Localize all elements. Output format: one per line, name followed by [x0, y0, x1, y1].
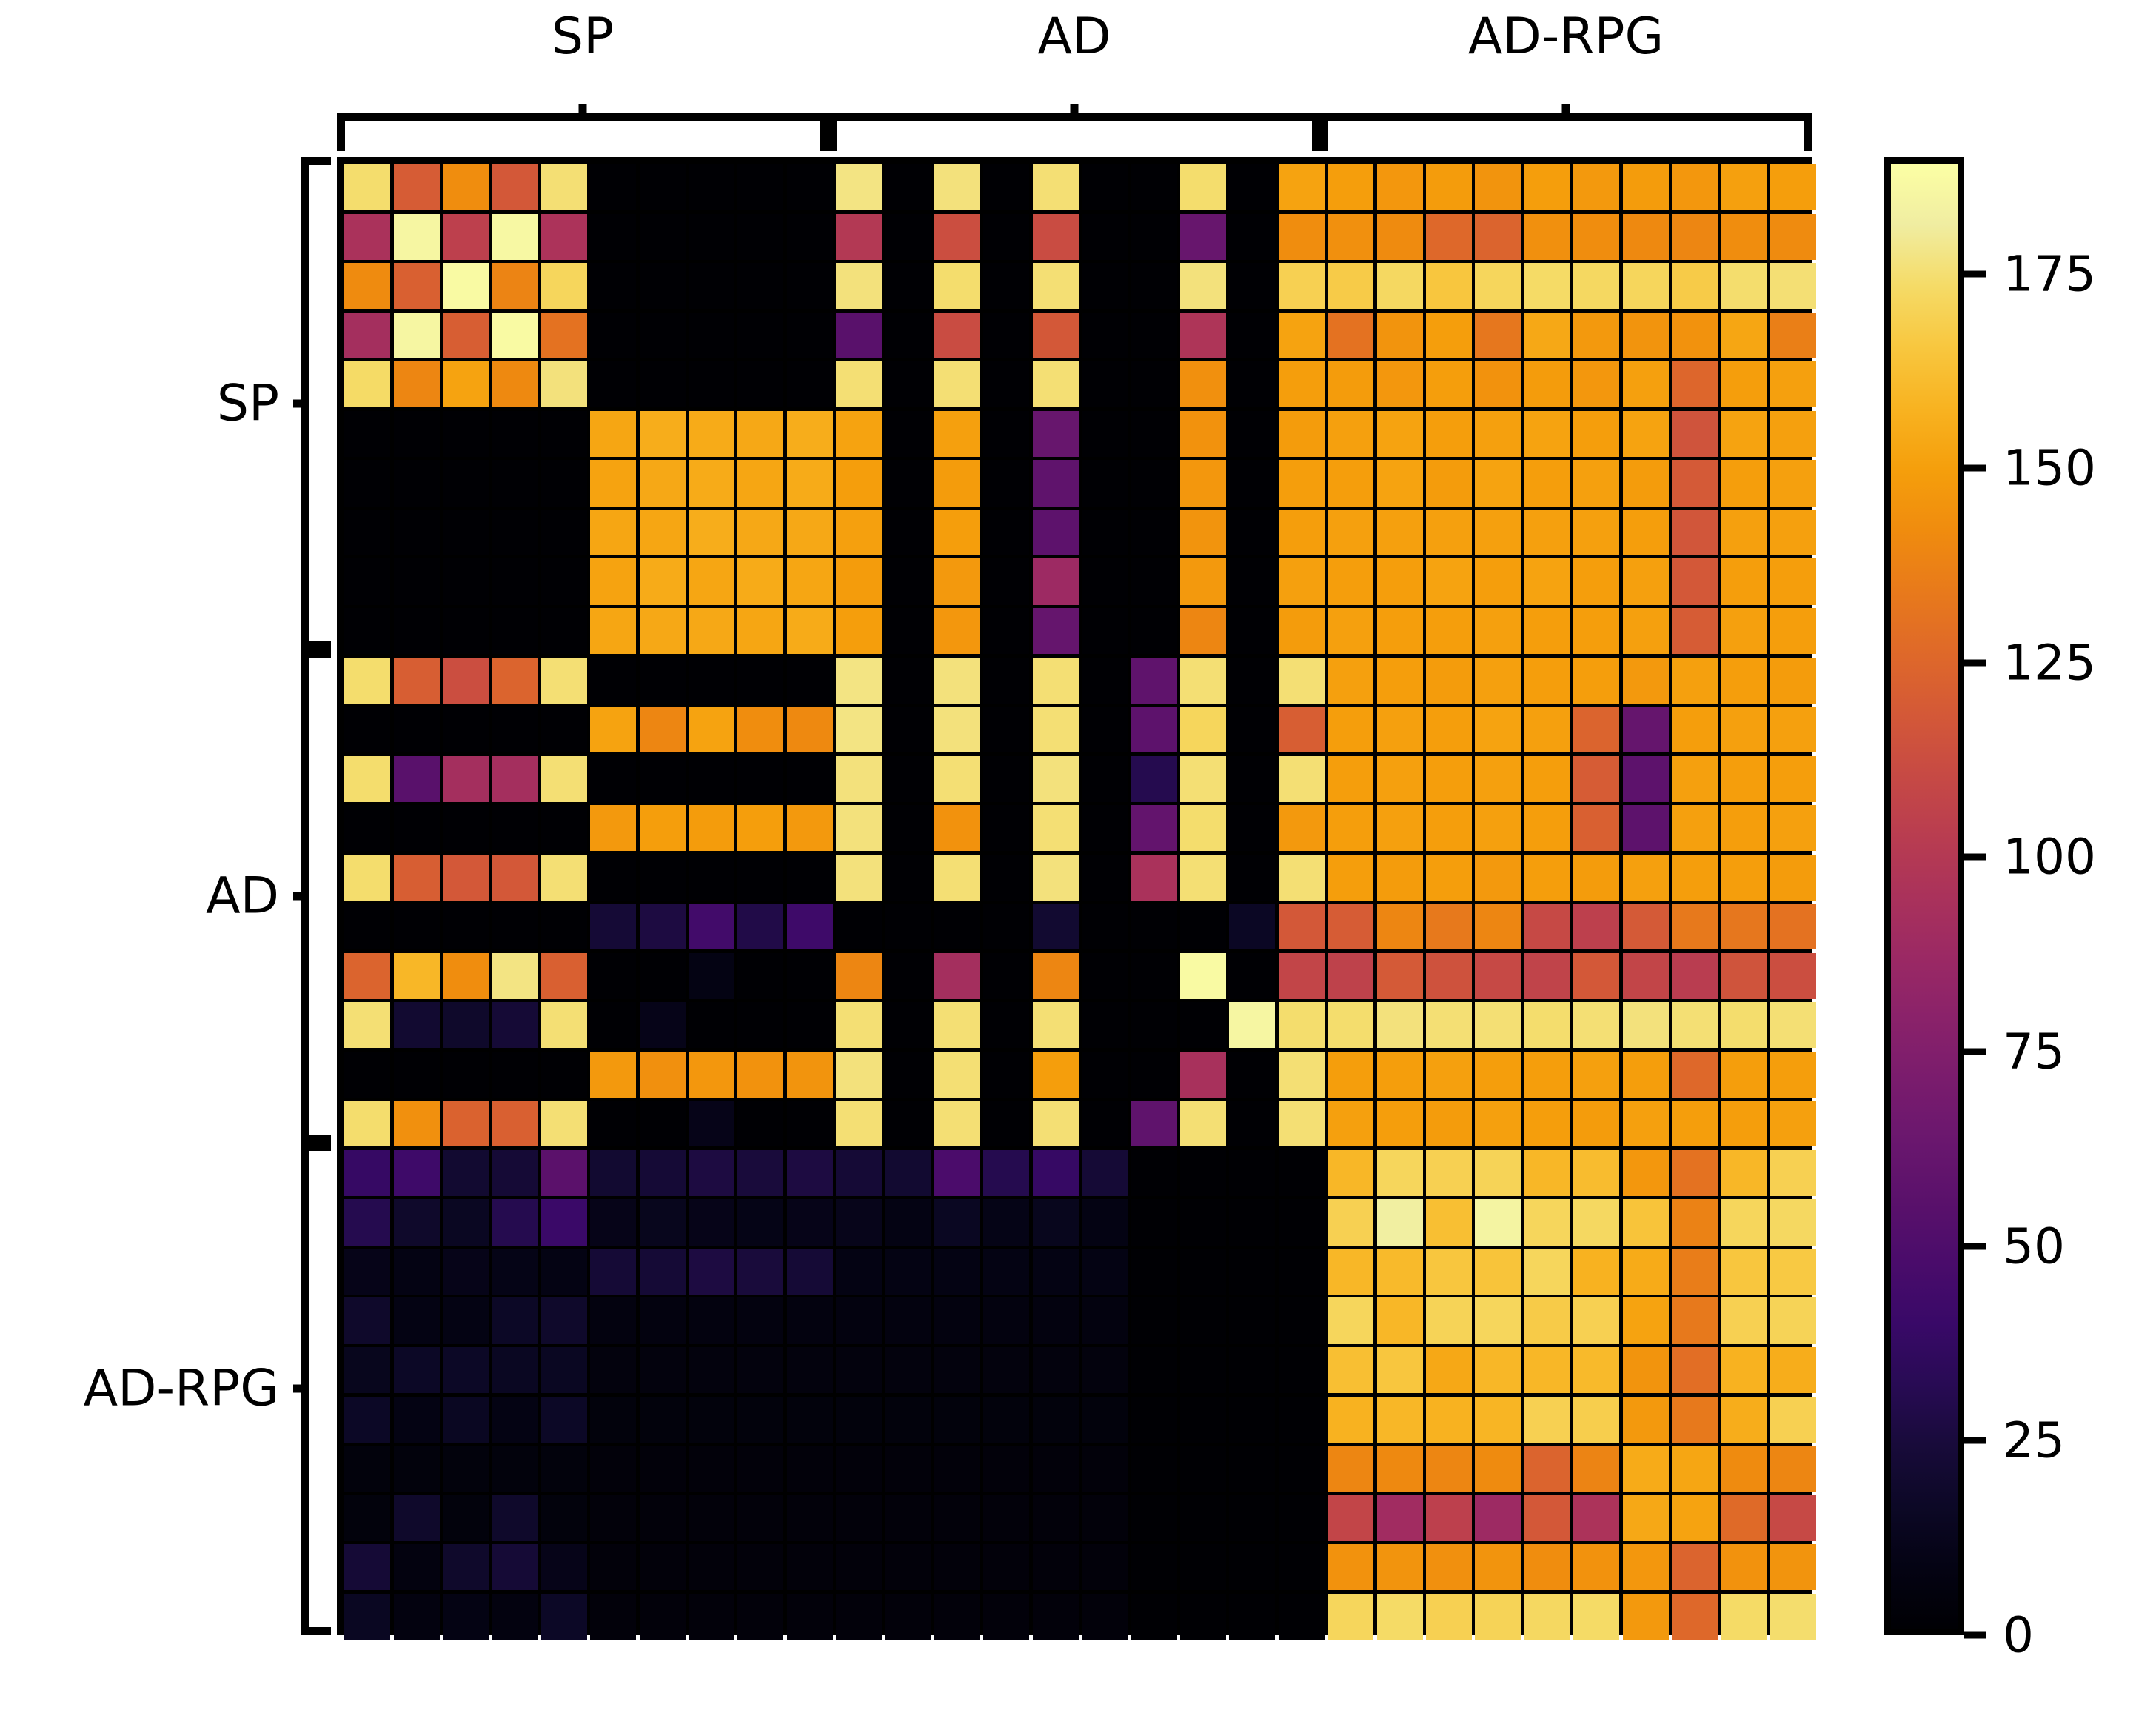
- heatmap-cell[interactable]: [541, 855, 587, 901]
- heatmap-cell[interactable]: [836, 214, 882, 260]
- heatmap-cell[interactable]: [1623, 1297, 1669, 1343]
- heatmap-cell[interactable]: [885, 361, 931, 407]
- heatmap-cell[interactable]: [344, 953, 390, 999]
- heatmap-cell[interactable]: [541, 1249, 587, 1295]
- heatmap-cell[interactable]: [1426, 1249, 1472, 1295]
- heatmap-cell[interactable]: [1229, 263, 1275, 309]
- heatmap-cell[interactable]: [1033, 361, 1079, 407]
- heatmap-cell[interactable]: [737, 558, 783, 604]
- heatmap-cell[interactable]: [492, 1297, 538, 1343]
- heatmap-cell[interactable]: [1524, 953, 1570, 999]
- heatmap-cell[interactable]: [1721, 756, 1767, 802]
- heatmap-cell[interactable]: [1279, 1199, 1325, 1245]
- heatmap-cell[interactable]: [443, 1101, 489, 1146]
- heatmap-cell[interactable]: [541, 1446, 587, 1492]
- heatmap-cell[interactable]: [1426, 214, 1472, 260]
- heatmap-cell[interactable]: [836, 411, 882, 457]
- heatmap-cell[interactable]: [787, 1297, 833, 1343]
- heatmap-cell[interactable]: [787, 1495, 833, 1541]
- heatmap-cell[interactable]: [983, 313, 1029, 358]
- heatmap-cell[interactable]: [1770, 1297, 1816, 1343]
- heatmap-cell[interactable]: [443, 510, 489, 555]
- heatmap-cell[interactable]: [541, 756, 587, 802]
- heatmap-cell[interactable]: [1770, 608, 1816, 654]
- heatmap-cell[interactable]: [541, 1052, 587, 1098]
- heatmap-cell[interactable]: [1623, 313, 1669, 358]
- heatmap-cell[interactable]: [640, 1150, 686, 1196]
- heatmap-cell[interactable]: [590, 1002, 636, 1048]
- heatmap-cell[interactable]: [983, 1002, 1029, 1048]
- heatmap-cell[interactable]: [394, 558, 440, 604]
- heatmap-cell[interactable]: [1672, 904, 1718, 949]
- heatmap-cell[interactable]: [1131, 460, 1177, 506]
- heatmap-cell[interactable]: [541, 1150, 587, 1196]
- heatmap-cell[interactable]: [1524, 658, 1570, 704]
- heatmap-cell[interactable]: [885, 263, 931, 309]
- heatmap-cell[interactable]: [1721, 460, 1767, 506]
- heatmap-cell[interactable]: [1721, 805, 1767, 851]
- heatmap-cell[interactable]: [394, 1249, 440, 1295]
- heatmap-cell[interactable]: [590, 658, 636, 704]
- heatmap-cell[interactable]: [1180, 1495, 1226, 1541]
- heatmap-cell[interactable]: [885, 1002, 931, 1048]
- heatmap-cell[interactable]: [1279, 510, 1325, 555]
- heatmap-cell[interactable]: [1131, 361, 1177, 407]
- heatmap-cell[interactable]: [1180, 164, 1226, 210]
- heatmap-cell[interactable]: [1180, 805, 1226, 851]
- heatmap-cell[interactable]: [1573, 1544, 1619, 1590]
- heatmap-cell[interactable]: [1623, 1150, 1669, 1196]
- heatmap-cell[interactable]: [1426, 1446, 1472, 1492]
- heatmap-cell[interactable]: [1328, 214, 1373, 260]
- heatmap-cell[interactable]: [1328, 608, 1373, 654]
- heatmap-cell[interactable]: [1131, 1347, 1177, 1393]
- heatmap-cell[interactable]: [1721, 707, 1767, 752]
- heatmap-cell[interactable]: [836, 1150, 882, 1196]
- heatmap-cell[interactable]: [787, 558, 833, 604]
- heatmap-cell[interactable]: [1721, 904, 1767, 949]
- heatmap-cell[interactable]: [1475, 214, 1521, 260]
- heatmap-cell[interactable]: [492, 658, 538, 704]
- heatmap-cell[interactable]: [1033, 658, 1079, 704]
- heatmap-cell[interactable]: [541, 1347, 587, 1393]
- heatmap-cell[interactable]: [640, 1347, 686, 1393]
- heatmap-cell[interactable]: [1770, 1495, 1816, 1541]
- heatmap-cell[interactable]: [1623, 855, 1669, 901]
- heatmap-cell[interactable]: [1328, 1544, 1373, 1590]
- heatmap-cell[interactable]: [492, 756, 538, 802]
- heatmap-cell[interactable]: [640, 558, 686, 604]
- heatmap-cell[interactable]: [1131, 558, 1177, 604]
- heatmap-cell[interactable]: [1426, 411, 1472, 457]
- heatmap-cell[interactable]: [1672, 1495, 1718, 1541]
- heatmap-cell[interactable]: [1426, 313, 1472, 358]
- heatmap-cell[interactable]: [689, 805, 734, 851]
- heatmap-cell[interactable]: [1082, 1544, 1128, 1590]
- heatmap-cell[interactable]: [1524, 411, 1570, 457]
- heatmap-cell[interactable]: [1082, 164, 1128, 210]
- heatmap-cell[interactable]: [1770, 1101, 1816, 1146]
- heatmap-cell[interactable]: [1229, 608, 1275, 654]
- heatmap-cell[interactable]: [492, 1150, 538, 1196]
- heatmap-cell[interactable]: [689, 756, 734, 802]
- heatmap-cell[interactable]: [1033, 411, 1079, 457]
- heatmap-cell[interactable]: [1328, 756, 1373, 802]
- heatmap-cell[interactable]: [983, 263, 1029, 309]
- heatmap-cell[interactable]: [787, 953, 833, 999]
- heatmap-cell[interactable]: [394, 1101, 440, 1146]
- heatmap-cell[interactable]: [1082, 1297, 1128, 1343]
- heatmap-cell[interactable]: [1623, 1397, 1669, 1443]
- heatmap-cell[interactable]: [394, 1199, 440, 1245]
- heatmap-cell[interactable]: [1475, 608, 1521, 654]
- heatmap-cell[interactable]: [1279, 855, 1325, 901]
- heatmap-cell[interactable]: [344, 313, 390, 358]
- heatmap-cell[interactable]: [1279, 756, 1325, 802]
- heatmap-cell[interactable]: [1770, 805, 1816, 851]
- heatmap-cell[interactable]: [640, 263, 686, 309]
- heatmap-cell[interactable]: [1426, 1347, 1472, 1393]
- heatmap-cell[interactable]: [983, 1594, 1029, 1640]
- heatmap-cell[interactable]: [737, 658, 783, 704]
- heatmap-cell[interactable]: [394, 460, 440, 506]
- heatmap-cell[interactable]: [787, 658, 833, 704]
- heatmap-cell[interactable]: [1377, 1495, 1423, 1541]
- heatmap-cell[interactable]: [590, 707, 636, 752]
- heatmap-cell[interactable]: [640, 510, 686, 555]
- heatmap-cell[interactable]: [1229, 1249, 1275, 1295]
- heatmap-cell[interactable]: [983, 164, 1029, 210]
- heatmap-cell[interactable]: [492, 1397, 538, 1443]
- heatmap-cell[interactable]: [787, 1002, 833, 1048]
- heatmap-cell[interactable]: [1131, 1397, 1177, 1443]
- heatmap-cell[interactable]: [443, 460, 489, 506]
- heatmap-cell[interactable]: [1082, 1347, 1128, 1393]
- heatmap-cell[interactable]: [344, 805, 390, 851]
- heatmap-cell[interactable]: [1131, 608, 1177, 654]
- heatmap-cell[interactable]: [541, 608, 587, 654]
- heatmap-cell[interactable]: [1033, 1249, 1079, 1295]
- heatmap-cell[interactable]: [1475, 1397, 1521, 1443]
- heatmap-cell[interactable]: [689, 1495, 734, 1541]
- heatmap-cell[interactable]: [1721, 1150, 1767, 1196]
- heatmap-cell[interactable]: [344, 361, 390, 407]
- heatmap-cell[interactable]: [934, 1297, 980, 1343]
- heatmap-cell[interactable]: [1475, 1199, 1521, 1245]
- heatmap-cell[interactable]: [344, 460, 390, 506]
- heatmap-cell[interactable]: [1623, 1101, 1669, 1146]
- heatmap-cell[interactable]: [640, 608, 686, 654]
- heatmap-cell[interactable]: [1328, 707, 1373, 752]
- heatmap-cell[interactable]: [1229, 1002, 1275, 1048]
- heatmap-cell[interactable]: [836, 558, 882, 604]
- heatmap-cell[interactable]: [885, 1199, 931, 1245]
- heatmap-cell[interactable]: [689, 1002, 734, 1048]
- heatmap-cell[interactable]: [590, 1446, 636, 1492]
- heatmap-cell[interactable]: [344, 1199, 390, 1245]
- heatmap-cell[interactable]: [1672, 1002, 1718, 1048]
- heatmap-cell[interactable]: [1721, 510, 1767, 555]
- heatmap-cell[interactable]: [1721, 1249, 1767, 1295]
- heatmap-cell[interactable]: [1573, 1446, 1619, 1492]
- heatmap-cell[interactable]: [1279, 904, 1325, 949]
- heatmap-cell[interactable]: [1770, 904, 1816, 949]
- heatmap-cell[interactable]: [787, 510, 833, 555]
- heatmap-cell[interactable]: [1180, 1544, 1226, 1590]
- heatmap-cell[interactable]: [737, 1199, 783, 1245]
- heatmap-cell[interactable]: [1426, 1002, 1472, 1048]
- heatmap-cell[interactable]: [1229, 558, 1275, 604]
- heatmap-cell[interactable]: [1131, 1002, 1177, 1048]
- heatmap-cell[interactable]: [885, 1544, 931, 1590]
- heatmap-cell[interactable]: [689, 313, 734, 358]
- heatmap-cell[interactable]: [1475, 805, 1521, 851]
- heatmap-cell[interactable]: [1180, 361, 1226, 407]
- heatmap-cell[interactable]: [1672, 263, 1718, 309]
- heatmap-cell[interactable]: [1279, 1249, 1325, 1295]
- heatmap-cell[interactable]: [1033, 953, 1079, 999]
- heatmap-cell[interactable]: [344, 855, 390, 901]
- heatmap-cell[interactable]: [737, 313, 783, 358]
- heatmap-cell[interactable]: [934, 1199, 980, 1245]
- heatmap-cell[interactable]: [1672, 558, 1718, 604]
- heatmap-cell[interactable]: [1573, 904, 1619, 949]
- heatmap-cell[interactable]: [1229, 460, 1275, 506]
- heatmap-cell[interactable]: [983, 510, 1029, 555]
- heatmap-cell[interactable]: [394, 1446, 440, 1492]
- heatmap-cell[interactable]: [1229, 1347, 1275, 1393]
- heatmap-cell[interactable]: [541, 1397, 587, 1443]
- heatmap-cell[interactable]: [689, 510, 734, 555]
- heatmap-cell[interactable]: [787, 707, 833, 752]
- heatmap-cell[interactable]: [1721, 1297, 1767, 1343]
- heatmap-cell[interactable]: [689, 1150, 734, 1196]
- heatmap-cell[interactable]: [1229, 953, 1275, 999]
- heatmap-cell[interactable]: [1672, 1150, 1718, 1196]
- heatmap-cell[interactable]: [1426, 1199, 1472, 1245]
- heatmap-cell[interactable]: [1770, 756, 1816, 802]
- heatmap-cell[interactable]: [1475, 1150, 1521, 1196]
- heatmap-cell[interactable]: [934, 1150, 980, 1196]
- heatmap-cell[interactable]: [492, 214, 538, 260]
- heatmap-cell[interactable]: [1426, 1297, 1472, 1343]
- heatmap-cell[interactable]: [1426, 1544, 1472, 1590]
- heatmap-cell[interactable]: [885, 953, 931, 999]
- heatmap-cell[interactable]: [885, 904, 931, 949]
- heatmap-cell[interactable]: [934, 361, 980, 407]
- heatmap-cell[interactable]: [1229, 361, 1275, 407]
- heatmap-cell[interactable]: [1229, 658, 1275, 704]
- heatmap-cell[interactable]: [590, 164, 636, 210]
- heatmap-cell[interactable]: [1770, 460, 1816, 506]
- heatmap-cell[interactable]: [983, 855, 1029, 901]
- heatmap-cell[interactable]: [885, 1101, 931, 1146]
- heatmap-cell[interactable]: [1672, 953, 1718, 999]
- heatmap-cell[interactable]: [1082, 460, 1128, 506]
- heatmap-cell[interactable]: [590, 411, 636, 457]
- heatmap-cell[interactable]: [640, 361, 686, 407]
- heatmap-cell[interactable]: [737, 1101, 783, 1146]
- heatmap-cell[interactable]: [443, 1297, 489, 1343]
- heatmap-cell[interactable]: [934, 1594, 980, 1640]
- heatmap-cell[interactable]: [394, 805, 440, 851]
- heatmap-cell[interactable]: [689, 658, 734, 704]
- heatmap-cell[interactable]: [1131, 1446, 1177, 1492]
- heatmap-cell[interactable]: [885, 411, 931, 457]
- heatmap-cell[interactable]: [737, 756, 783, 802]
- heatmap-cell[interactable]: [1475, 460, 1521, 506]
- heatmap-cell[interactable]: [1131, 263, 1177, 309]
- heatmap-cell[interactable]: [590, 214, 636, 260]
- heatmap-cell[interactable]: [1082, 608, 1128, 654]
- heatmap-cell[interactable]: [787, 1446, 833, 1492]
- heatmap-cell[interactable]: [689, 361, 734, 407]
- heatmap-cell[interactable]: [1180, 756, 1226, 802]
- heatmap-cell[interactable]: [590, 1150, 636, 1196]
- heatmap-cell[interactable]: [492, 1052, 538, 1098]
- heatmap-cell[interactable]: [934, 558, 980, 604]
- heatmap-cell[interactable]: [1623, 608, 1669, 654]
- heatmap-cell[interactable]: [934, 214, 980, 260]
- heatmap-cell[interactable]: [1426, 510, 1472, 555]
- heatmap-cell[interactable]: [1033, 164, 1079, 210]
- heatmap-cell[interactable]: [1377, 313, 1423, 358]
- heatmap-cell[interactable]: [394, 1002, 440, 1048]
- heatmap-cell[interactable]: [1672, 460, 1718, 506]
- heatmap-cell[interactable]: [1672, 658, 1718, 704]
- heatmap-cell[interactable]: [836, 904, 882, 949]
- heatmap-cell[interactable]: [590, 1249, 636, 1295]
- heatmap-cell[interactable]: [836, 1101, 882, 1146]
- heatmap-cell[interactable]: [1279, 361, 1325, 407]
- heatmap-cell[interactable]: [1033, 558, 1079, 604]
- heatmap-cell[interactable]: [640, 460, 686, 506]
- heatmap-cell[interactable]: [1033, 805, 1079, 851]
- heatmap-cell[interactable]: [492, 1495, 538, 1541]
- heatmap-cell[interactable]: [1131, 658, 1177, 704]
- heatmap-cell[interactable]: [344, 1052, 390, 1098]
- heatmap-cell[interactable]: [1082, 1397, 1128, 1443]
- heatmap-cell[interactable]: [737, 263, 783, 309]
- heatmap-cell[interactable]: [836, 1397, 882, 1443]
- heatmap-cell[interactable]: [394, 1052, 440, 1098]
- heatmap-cell[interactable]: [787, 1397, 833, 1443]
- heatmap-cell[interactable]: [1573, 460, 1619, 506]
- heatmap-cell[interactable]: [934, 510, 980, 555]
- heatmap-cell[interactable]: [590, 1101, 636, 1146]
- heatmap-cell[interactable]: [1328, 164, 1373, 210]
- heatmap-cell[interactable]: [541, 1101, 587, 1146]
- heatmap-cell[interactable]: [640, 1495, 686, 1541]
- heatmap-cell[interactable]: [1721, 855, 1767, 901]
- heatmap-cell[interactable]: [1573, 361, 1619, 407]
- heatmap-cell[interactable]: [787, 855, 833, 901]
- heatmap-cell[interactable]: [885, 1150, 931, 1196]
- heatmap-cell[interactable]: [1721, 1052, 1767, 1098]
- heatmap-cell[interactable]: [1770, 558, 1816, 604]
- heatmap-cell[interactable]: [492, 510, 538, 555]
- heatmap-cell[interactable]: [1082, 1446, 1128, 1492]
- heatmap-cell[interactable]: [1229, 1495, 1275, 1541]
- heatmap-cell[interactable]: [1672, 1446, 1718, 1492]
- heatmap-cell[interactable]: [1082, 1594, 1128, 1640]
- heatmap-cell[interactable]: [640, 214, 686, 260]
- heatmap-cell[interactable]: [1721, 608, 1767, 654]
- heatmap-cell[interactable]: [344, 904, 390, 949]
- heatmap-cell[interactable]: [492, 1594, 538, 1640]
- heatmap-cell[interactable]: [885, 1297, 931, 1343]
- heatmap-cell[interactable]: [394, 263, 440, 309]
- heatmap-cell[interactable]: [1770, 1594, 1816, 1640]
- heatmap-cell[interactable]: [1279, 1544, 1325, 1590]
- heatmap-cell[interactable]: [737, 164, 783, 210]
- heatmap-cell[interactable]: [492, 460, 538, 506]
- heatmap-cell[interactable]: [983, 1199, 1029, 1245]
- heatmap-cell[interactable]: [640, 707, 686, 752]
- heatmap-cell[interactable]: [689, 214, 734, 260]
- heatmap-cell[interactable]: [492, 855, 538, 901]
- heatmap-cell[interactable]: [1033, 1594, 1079, 1640]
- heatmap-cell[interactable]: [934, 460, 980, 506]
- heatmap-cell[interactable]: [1377, 658, 1423, 704]
- heatmap-cell[interactable]: [787, 904, 833, 949]
- heatmap-cell[interactable]: [689, 953, 734, 999]
- heatmap-cell[interactable]: [1180, 1249, 1226, 1295]
- heatmap-cell[interactable]: [1131, 805, 1177, 851]
- heatmap-cell[interactable]: [1377, 1249, 1423, 1295]
- heatmap-cell[interactable]: [1082, 263, 1128, 309]
- heatmap-cell[interactable]: [1033, 1052, 1079, 1098]
- heatmap-cell[interactable]: [1672, 1347, 1718, 1393]
- heatmap-cell[interactable]: [443, 1446, 489, 1492]
- heatmap-cell[interactable]: [541, 707, 587, 752]
- heatmap-cell[interactable]: [737, 510, 783, 555]
- heatmap-cell[interactable]: [836, 855, 882, 901]
- heatmap-cell[interactable]: [394, 510, 440, 555]
- heatmap-cell[interactable]: [1180, 658, 1226, 704]
- heatmap-cell[interactable]: [1033, 313, 1079, 358]
- heatmap-cell[interactable]: [590, 1397, 636, 1443]
- heatmap-cell[interactable]: [836, 1544, 882, 1590]
- heatmap-cell[interactable]: [344, 1397, 390, 1443]
- heatmap-cell[interactable]: [492, 1002, 538, 1048]
- heatmap-cell[interactable]: [1623, 707, 1669, 752]
- heatmap-cell[interactable]: [1279, 707, 1325, 752]
- heatmap-cell[interactable]: [1672, 1249, 1718, 1295]
- heatmap-cell[interactable]: [492, 953, 538, 999]
- heatmap-cell[interactable]: [1524, 1199, 1570, 1245]
- heatmap-cell[interactable]: [737, 460, 783, 506]
- heatmap-cell[interactable]: [983, 1544, 1029, 1590]
- heatmap-cell[interactable]: [885, 805, 931, 851]
- heatmap-cell[interactable]: [1328, 1052, 1373, 1098]
- heatmap-cell[interactable]: [1328, 1495, 1373, 1541]
- heatmap-cell[interactable]: [1033, 460, 1079, 506]
- heatmap-cell[interactable]: [885, 1397, 931, 1443]
- heatmap-cell[interactable]: [737, 904, 783, 949]
- heatmap-cell[interactable]: [1623, 1495, 1669, 1541]
- heatmap-cell[interactable]: [1475, 313, 1521, 358]
- heatmap-cell[interactable]: [836, 658, 882, 704]
- heatmap-cell[interactable]: [541, 953, 587, 999]
- heatmap-cell[interactable]: [1328, 510, 1373, 555]
- heatmap-cell[interactable]: [689, 1594, 734, 1640]
- heatmap-cell[interactable]: [492, 313, 538, 358]
- heatmap-cell[interactable]: [1524, 263, 1570, 309]
- heatmap-cell[interactable]: [1377, 460, 1423, 506]
- heatmap-cell[interactable]: [1672, 313, 1718, 358]
- heatmap-cell[interactable]: [836, 1446, 882, 1492]
